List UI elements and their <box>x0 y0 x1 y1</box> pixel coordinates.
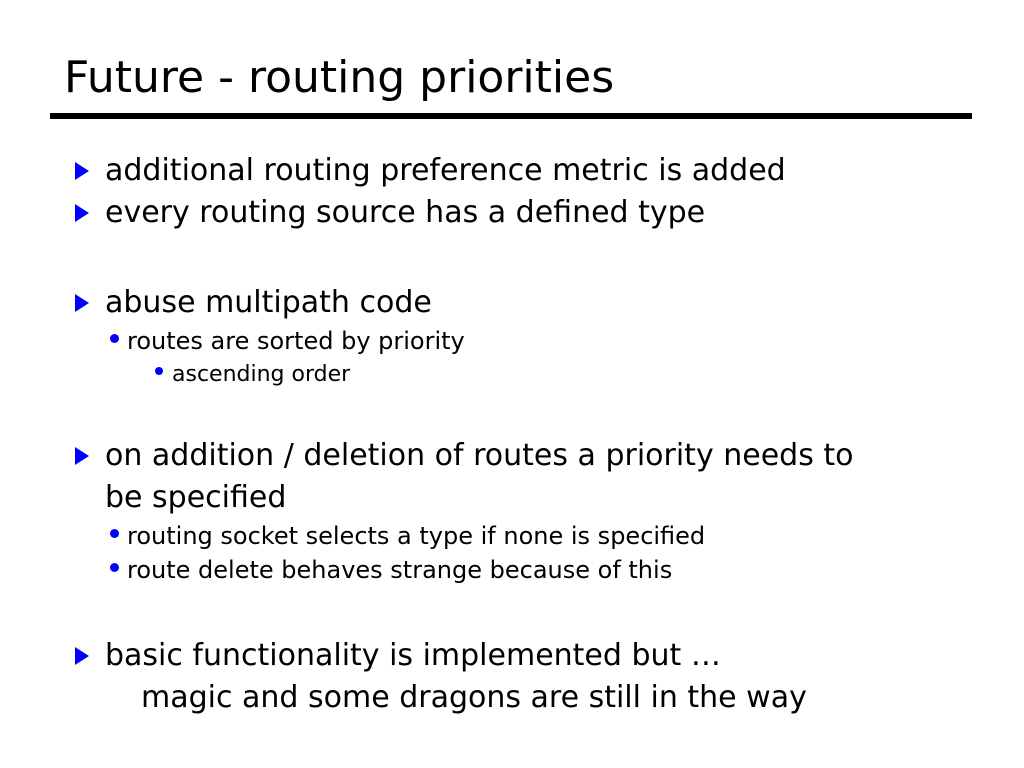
spacer <box>0 234 1024 282</box>
sub-bullet-route-delete-strange: route delete behaves strange because of … <box>0 553 1024 587</box>
sub-bullet-text: route delete behaves strange because of … <box>127 553 1024 587</box>
round-bullet-icon <box>110 324 127 358</box>
title-underline-rule <box>50 113 972 119</box>
sub-bullet-routes-sorted: routes are sorted by priority <box>0 324 1024 358</box>
page-title: Future - routing priorities <box>50 52 974 104</box>
sub-sub-bullet-ascending-order: ascending order <box>0 358 1024 391</box>
bullet-text-line-1: on addition / deletion of routes a prior… <box>105 435 945 477</box>
triangle-right-bullet-icon <box>75 150 105 192</box>
triangle-right-bullet-icon <box>75 435 105 477</box>
round-bullet-icon <box>155 358 172 391</box>
bullet-text-multiline: basic functionality is implemented but …… <box>105 635 945 719</box>
slide: Future - routing priorities additional r… <box>0 0 1024 768</box>
triangle-right-bullet-icon <box>75 282 105 324</box>
sub-bullet-text: routing socket selects a type if none is… <box>127 519 1024 553</box>
sub-bullet-routing-socket-selects: routing socket selects a type if none is… <box>0 519 1024 553</box>
bullet-item-priority-needed: on addition / deletion of routes a prior… <box>0 435 1024 519</box>
slide-body: additional routing preference metric is … <box>0 150 1024 719</box>
triangle-right-bullet-icon <box>75 635 105 677</box>
bullet-item-additional-metric: additional routing preference metric is … <box>0 150 1024 192</box>
bullet-text: every routing source has a defined type <box>105 192 945 234</box>
bullet-item-routing-source-type: every routing source has a defined type <box>0 192 1024 234</box>
bullet-text-line-2: magic and some dragons are still in the … <box>105 677 945 719</box>
sub-bullet-text: routes are sorted by priority <box>127 324 1024 358</box>
round-bullet-icon <box>110 519 127 553</box>
bullet-text: abuse multipath code <box>105 282 945 324</box>
triangle-right-bullet-icon <box>75 192 105 234</box>
bullet-item-abuse-multipath: abuse multipath code <box>0 282 1024 324</box>
spacer <box>0 587 1024 635</box>
sub-sub-bullet-text: ascending order <box>172 358 1024 391</box>
bullet-text-multiline: on addition / deletion of routes a prior… <box>105 435 945 519</box>
round-bullet-icon <box>110 553 127 587</box>
title-block: Future - routing priorities <box>50 52 974 104</box>
bullet-item-basic-functionality: basic functionality is implemented but …… <box>0 635 1024 719</box>
bullet-text-line-2: be specified <box>105 477 945 519</box>
bullet-text-line-1: basic functionality is implemented but … <box>105 635 945 677</box>
bullet-text: additional routing preference metric is … <box>105 150 945 192</box>
spacer <box>0 391 1024 435</box>
